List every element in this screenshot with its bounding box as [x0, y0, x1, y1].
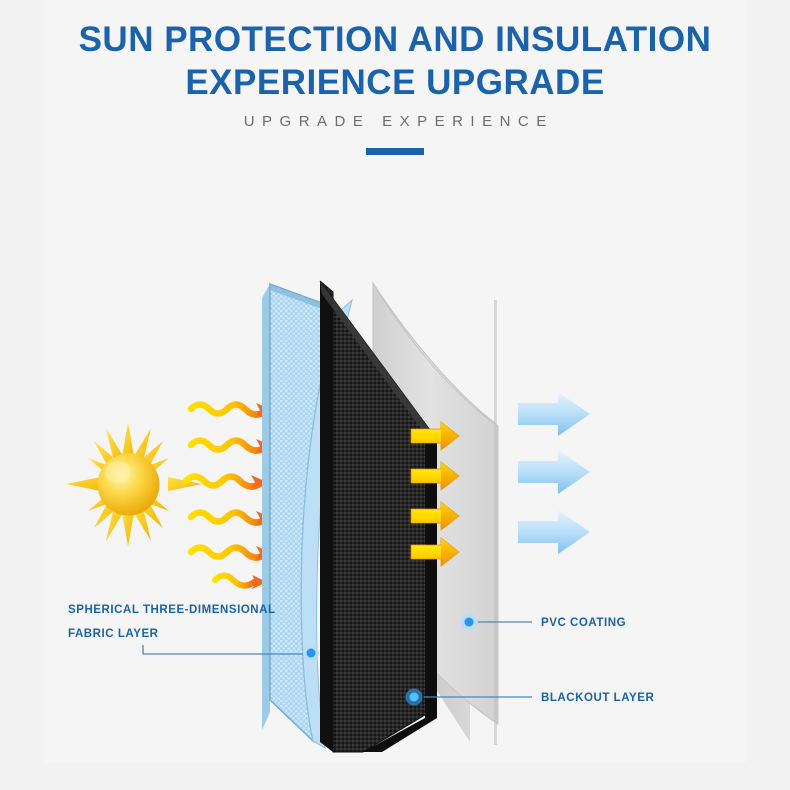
reflected-light-arrow: [518, 392, 590, 436]
sun-icon: [66, 423, 202, 546]
incoming-ray: [186, 475, 267, 489]
infographic-page: SUN PROTECTION AND INSULATION EXPERIENCE…: [0, 0, 790, 790]
reflected-light-arrow: [518, 450, 590, 494]
incoming-ray-group: [186, 403, 272, 589]
callout-label-pvc: PVC COATING: [541, 611, 626, 635]
pvc-right-edge: [494, 300, 497, 745]
callout-dot-core: [410, 693, 419, 702]
incoming-ray: [191, 546, 272, 560]
incoming-ray: [191, 403, 272, 417]
callout-label-fabric: SPHERICAL THREE-DIMENSIONAL FABRIC LAYER: [68, 598, 276, 646]
incoming-ray: [191, 511, 272, 525]
layer-diagram: [0, 0, 790, 790]
callout-dot-core: [307, 649, 316, 658]
reflected-light-arrow-group: [518, 392, 590, 554]
callout-label-fabric-line1: SPHERICAL THREE-DIMENSIONAL: [68, 598, 276, 622]
incoming-ray: [215, 575, 267, 589]
incoming-ray: [191, 439, 272, 453]
callout-label-blackout: BLACKOUT LAYER: [541, 686, 654, 710]
callout-label-fabric-line2: FABRIC LAYER: [68, 622, 276, 646]
callout-dot-core: [465, 618, 474, 627]
reflected-light-arrow: [518, 510, 590, 554]
